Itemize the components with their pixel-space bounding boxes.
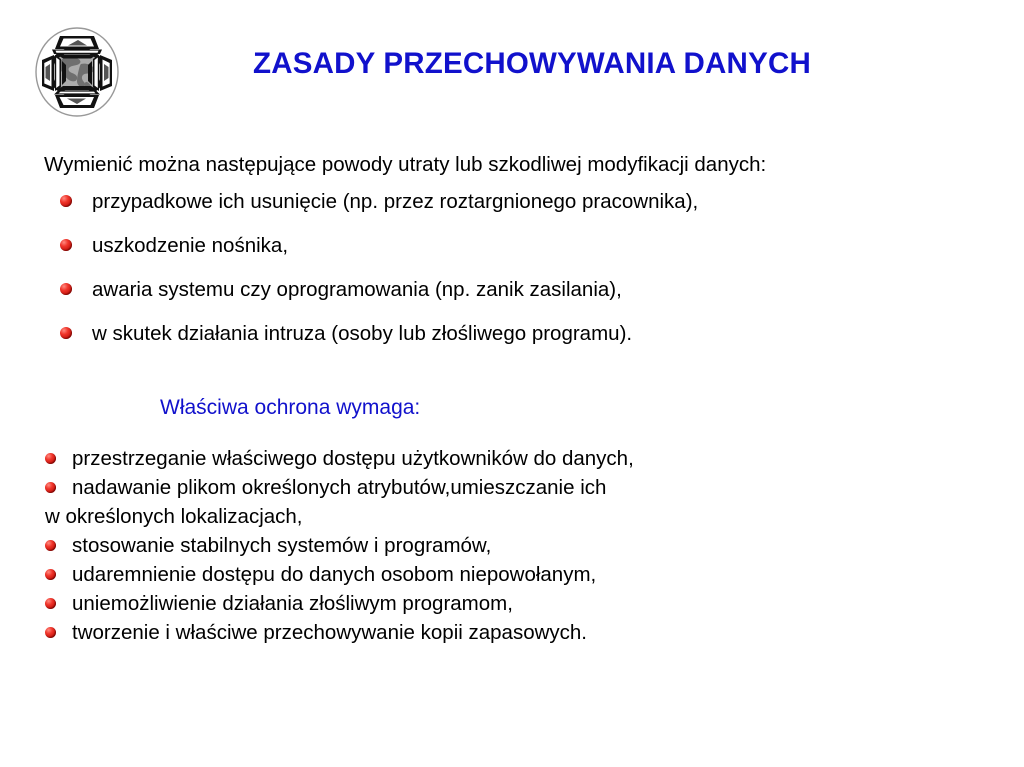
list-item: awaria systemu czy oprogramowania (np. z… <box>60 277 960 321</box>
requirements-list: przestrzeganie właściwego dostępu użytko… <box>45 446 1005 649</box>
monitor-top-icon <box>52 36 102 59</box>
intro-paragraph: Wymienić można następujące powody utraty… <box>44 152 766 178</box>
list-item: stosowanie stabilnych systemów i program… <box>45 533 1005 562</box>
monitor-bottom-icon <box>54 86 100 108</box>
slide-header: ZASADY PRZECHOWYWANIA DANYCH <box>0 0 1024 130</box>
list-item: nadawanie plikom określonych atrybutów,u… <box>45 475 1005 504</box>
list-item: uszkodzenie nośnika, <box>60 233 960 277</box>
red-sphere-bullet-icon <box>60 239 72 251</box>
red-sphere-bullet-icon <box>45 453 56 464</box>
list-item: przestrzeganie właściwego dostępu użytko… <box>45 446 1005 475</box>
list-item-label: uszkodzenie nośnika, <box>92 233 288 258</box>
red-sphere-bullet-icon <box>45 482 56 493</box>
list-item-label: uniemożliwienie działania złośliwym prog… <box>72 591 513 616</box>
red-sphere-bullet-icon <box>60 283 72 295</box>
globe-network-monitors-icon <box>21 16 133 128</box>
list-item-label: awaria systemu czy oprogramowania (np. z… <box>92 277 622 302</box>
list-item-label: przestrzeganie właściwego dostępu użytko… <box>72 446 634 471</box>
list-item: uniemożliwienie działania złośliwym prog… <box>45 591 1005 620</box>
red-sphere-bullet-icon <box>45 569 56 580</box>
red-sphere-bullet-icon <box>45 598 56 609</box>
list-item: tworzenie i właściwe przechowywanie kopi… <box>45 620 1005 649</box>
red-sphere-bullet-icon <box>45 540 56 551</box>
list-item-label: nadawanie plikom określonych atrybutów,u… <box>72 475 606 500</box>
list-item-label: tworzenie i właściwe przechowywanie kopi… <box>72 620 587 645</box>
section-subheading: Właściwa ochrona wymaga: <box>160 395 420 421</box>
list-item-label: w skutek działania intruza (osoby lub zł… <box>92 321 632 346</box>
causes-list: przypadkowe ich usunięcie (np. przez roz… <box>60 189 960 365</box>
list-item-label: w określonych lokalizacjach, <box>45 504 303 529</box>
list-item-label: stosowanie stabilnych systemów i program… <box>72 533 491 558</box>
red-sphere-bullet-icon <box>60 195 72 207</box>
list-item-label: przypadkowe ich usunięcie (np. przez roz… <box>92 189 698 214</box>
list-item-label: udaremnienie dostępu do danych osobom ni… <box>72 562 596 587</box>
red-sphere-bullet-icon <box>60 327 72 339</box>
list-item-continuation: w określonych lokalizacjach, <box>45 504 1005 533</box>
red-sphere-bullet-icon <box>45 627 56 638</box>
list-item: przypadkowe ich usunięcie (np. przez roz… <box>60 189 960 233</box>
list-item: udaremnienie dostępu do danych osobom ni… <box>45 562 1005 591</box>
slide-root: ZASADY PRZECHOWYWANIA DANYCH Wymienić mo… <box>0 0 1024 767</box>
page-title: ZASADY PRZECHOWYWANIA DANYCH <box>172 47 892 81</box>
list-item: w skutek działania intruza (osoby lub zł… <box>60 321 960 365</box>
